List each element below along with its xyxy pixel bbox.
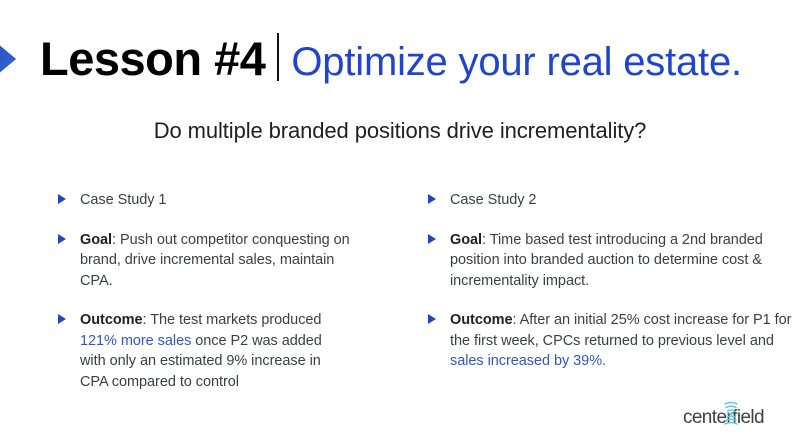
bullet-highlight: sales increased by 39%. xyxy=(450,353,606,369)
bullet-item: Goal: Push out competitor conquesting on… xyxy=(58,230,350,292)
bullet-item: Goal: Time based test introducing a 2nd … xyxy=(428,230,800,292)
triangle-bullet-icon xyxy=(58,234,66,244)
title-divider xyxy=(277,33,279,81)
bullet-body: Case Study 2 xyxy=(450,192,536,208)
logo-wordmark: centerfield xyxy=(683,407,764,429)
bullet-label: Outcome xyxy=(450,312,513,328)
title-main-text: Lesson #4 xyxy=(40,35,265,82)
column-case-study-2: Case Study 2Goal: Time based test introd… xyxy=(400,190,800,392)
triangle-bullet-icon xyxy=(428,314,436,324)
bullet-item: Case Study 2 xyxy=(428,190,800,211)
bullet-body: : Time based test introducing a 2nd bran… xyxy=(450,232,763,289)
column-case-study-1: Case Study 1Goal: Push out competitor co… xyxy=(0,190,400,392)
triangle-bullet-icon xyxy=(58,194,66,204)
triangle-bullet-icon xyxy=(428,234,436,244)
triangle-bullet-icon xyxy=(428,194,436,204)
bullet-item: Outcome: The test markets produced 121% … xyxy=(58,310,350,392)
subtitle-question: Do multiple branded positions drive incr… xyxy=(0,118,800,144)
triangle-bullet-icon xyxy=(58,314,66,324)
right-arrow-chevron-icon xyxy=(0,34,16,84)
bullet-label: Outcome xyxy=(80,312,143,328)
bullet-item: Case Study 1 xyxy=(58,190,350,211)
title-accent-text: Optimize your real estate. xyxy=(291,42,742,82)
bullet-text: Case Study 1 xyxy=(80,190,350,211)
case-study-columns: Case Study 1Goal: Push out competitor co… xyxy=(0,190,800,392)
bullet-label: Goal xyxy=(80,232,112,248)
bullet-text: Case Study 2 xyxy=(450,190,800,211)
bullet-item: Outcome: After an initial 25% cost incre… xyxy=(428,310,800,372)
brand-logo: centerfield xyxy=(683,406,764,430)
bullet-body: Case Study 1 xyxy=(80,192,166,208)
bullet-highlight: 121% more sales xyxy=(80,333,191,349)
bullet-text: Goal: Push out competitor conquesting on… xyxy=(80,230,350,292)
bullet-text: Outcome: After an initial 25% cost incre… xyxy=(450,310,800,372)
bullet-text: Outcome: The test markets produced 121% … xyxy=(80,310,350,392)
bullet-text: Goal: Time based test introducing a 2nd … xyxy=(450,230,800,292)
bullet-body: : Push out competitor conquesting on bra… xyxy=(80,232,350,289)
bullet-label: Goal xyxy=(450,232,482,248)
slide-canvas: Lesson #4 Optimize your real estate. Do … xyxy=(0,0,800,446)
page-title: Lesson #4 Optimize your real estate. xyxy=(40,27,742,82)
bullet-body: : The test markets produced xyxy=(143,312,322,328)
